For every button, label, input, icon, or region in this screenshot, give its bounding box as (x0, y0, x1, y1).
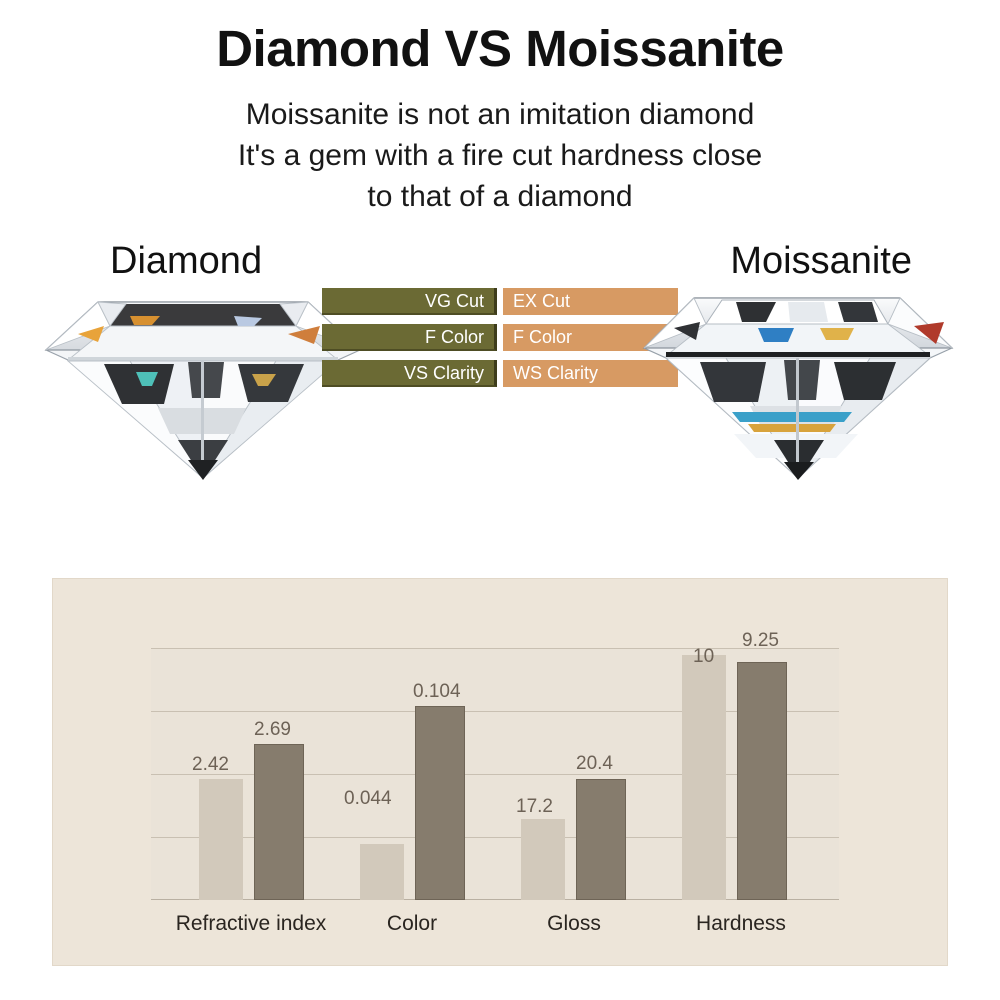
subtitle-line-3: to that of a diamond (0, 176, 1000, 217)
bar-diamond-gloss (521, 819, 565, 900)
diamond-gem-icon (38, 282, 368, 487)
infographic-page: Diamond VS Moissanite Moissanite is not … (0, 0, 1000, 1000)
bar-moissanite-hardness (737, 662, 787, 900)
badge-diamond-clarity: VS Clarity (322, 360, 497, 387)
value-label-moissanite-gloss: 20.4 (576, 753, 613, 775)
bar-diamond-hardness (682, 655, 726, 900)
moissanite-heading: Moissanite (730, 240, 912, 283)
value-label-moissanite-refractive-index: 2.69 (254, 719, 291, 741)
subtitle-line-1: Moissanite is not an imitation diamond (0, 94, 1000, 135)
value-label-diamond-refractive-index: 2.42 (192, 754, 229, 776)
page-title: Diamond VS Moissanite (0, 22, 1000, 76)
value-label-diamond-hardness: 10 (693, 646, 714, 668)
bar-diamond-color (360, 844, 404, 900)
page-header: Diamond VS Moissanite Moissanite is not … (0, 0, 1000, 218)
diamond-attribute-badges: VG Cut F Color VS Clarity (322, 288, 497, 387)
badge-diamond-color: F Color (322, 324, 497, 351)
diamond-heading: Diamond (110, 240, 262, 283)
gem-comparison-section: Diamond Moissanite (0, 240, 1000, 505)
moissanite-gem-icon (638, 282, 958, 487)
comparison-chart-panel: 2.42 2.69 0.044 0.104 17.2 20.4 10 9.25 … (52, 578, 948, 966)
gridline-top (151, 648, 839, 649)
bar-moissanite-refractive-index (254, 744, 304, 900)
value-label-moissanite-color: 0.104 (413, 681, 461, 703)
category-label-gloss: Gloss (509, 912, 639, 936)
bar-diamond-refractive-index (199, 779, 243, 900)
category-label-color: Color (347, 912, 477, 936)
bar-moissanite-color (415, 706, 465, 900)
category-label-hardness: Hardness (671, 912, 811, 936)
badge-diamond-cut: VG Cut (322, 288, 497, 315)
bar-moissanite-gloss (576, 779, 626, 900)
subtitle-line-2: It's a gem with a fire cut hardness clos… (0, 135, 1000, 176)
value-label-diamond-gloss: 17.2 (516, 796, 553, 818)
gridline-4 (151, 711, 839, 712)
value-label-moissanite-hardness: 9.25 (742, 630, 779, 652)
page-subtitle: Moissanite is not an imitation diamond I… (0, 94, 1000, 218)
chart-plot-area: 2.42 2.69 0.044 0.104 17.2 20.4 10 9.25 … (151, 648, 839, 900)
value-label-diamond-color: 0.044 (344, 788, 392, 810)
category-label-refractive-index: Refractive index (161, 912, 341, 936)
